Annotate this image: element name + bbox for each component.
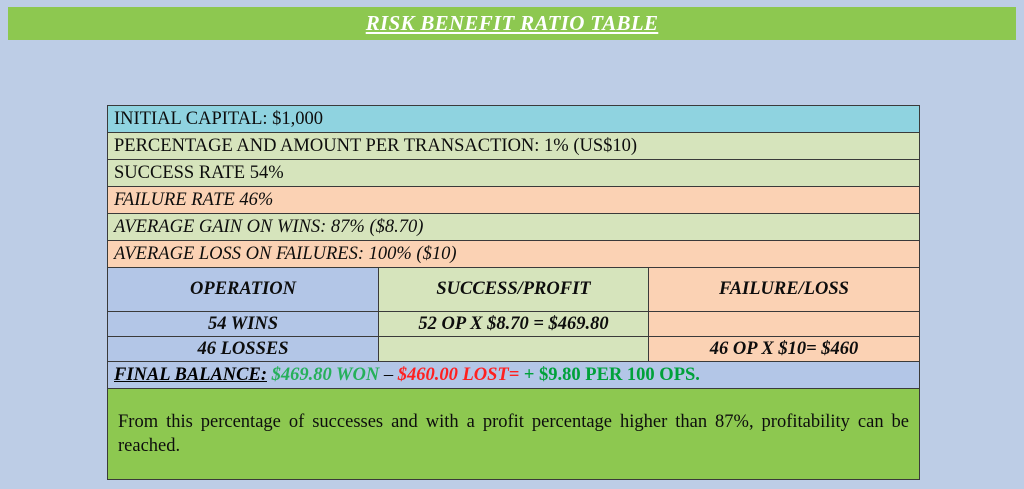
- average-gain-cell: AVERAGE GAIN ON WINS: 87% ($8.70): [108, 214, 920, 241]
- wins-operation-cell: 54 WINS: [108, 312, 379, 337]
- failure-rate-cell: FAILURE RATE 46%: [108, 187, 920, 214]
- table-row: AVERAGE GAIN ON WINS: 87% ($8.70): [108, 214, 920, 241]
- success-rate-cell: SUCCESS RATE 54%: [108, 160, 920, 187]
- percentage-per-transaction-cell: PERCENTAGE AND AMOUNT PER TRANSACTION: 1…: [108, 133, 920, 160]
- final-balance-label: FINAL BALANCE:: [114, 365, 267, 385]
- losses-success-cell: [379, 337, 649, 362]
- table-row-wins: 54 WINS 52 OP X $8.70 = $469.80: [108, 312, 920, 337]
- final-balance-separator: –: [384, 365, 393, 385]
- final-balance-net: + $9.80 PER 100 OPS.: [524, 365, 700, 385]
- table-row-conclusion: From this percentage of successes and wi…: [108, 389, 920, 480]
- table-header-row: OPERATION SUCCESS/PROFIT FAILURE/LOSS: [108, 268, 920, 312]
- column-header-success-profit: SUCCESS/PROFIT: [379, 268, 649, 312]
- average-loss-cell: AVERAGE LOSS ON FAILURES: 100% ($10): [108, 241, 920, 268]
- final-balance-cell: FINAL BALANCE: $469.80 WON – $460.00 LOS…: [108, 362, 920, 389]
- wins-failure-cell: [649, 312, 920, 337]
- initial-capital-cell: INITIAL CAPITAL: $1,000: [108, 106, 920, 133]
- table-row: FAILURE RATE 46%: [108, 187, 920, 214]
- table-row: PERCENTAGE AND AMOUNT PER TRANSACTION: 1…: [108, 133, 920, 160]
- conclusion-cell: From this percentage of successes and wi…: [108, 389, 920, 480]
- column-header-failure-loss: FAILURE/LOSS: [649, 268, 920, 312]
- losses-operation-cell: 46 LOSSES: [108, 337, 379, 362]
- final-balance-won: $469.80 WON: [272, 365, 380, 385]
- page-title: RISK BENEFIT RATIO TABLE: [366, 11, 659, 36]
- conclusion-text: From this percentage of successes and wi…: [118, 410, 909, 459]
- table-row-losses: 46 LOSSES 46 OP X $10= $460: [108, 337, 920, 362]
- column-header-operation: OPERATION: [108, 268, 379, 312]
- table-row: AVERAGE LOSS ON FAILURES: 100% ($10): [108, 241, 920, 268]
- wins-success-cell: 52 OP X $8.70 = $469.80: [379, 312, 649, 337]
- table-row: INITIAL CAPITAL: $1,000: [108, 106, 920, 133]
- title-banner: RISK BENEFIT RATIO TABLE: [8, 7, 1016, 40]
- losses-failure-cell: 46 OP X $10= $460: [649, 337, 920, 362]
- table-row: SUCCESS RATE 54%: [108, 160, 920, 187]
- table-row-final-balance: FINAL BALANCE: $469.80 WON – $460.00 LOS…: [108, 362, 920, 389]
- risk-benefit-table-container: INITIAL CAPITAL: $1,000 PERCENTAGE AND A…: [107, 105, 919, 480]
- final-balance-lost: $460.00 LOST=: [398, 365, 520, 385]
- risk-benefit-table: INITIAL CAPITAL: $1,000 PERCENTAGE AND A…: [107, 105, 920, 480]
